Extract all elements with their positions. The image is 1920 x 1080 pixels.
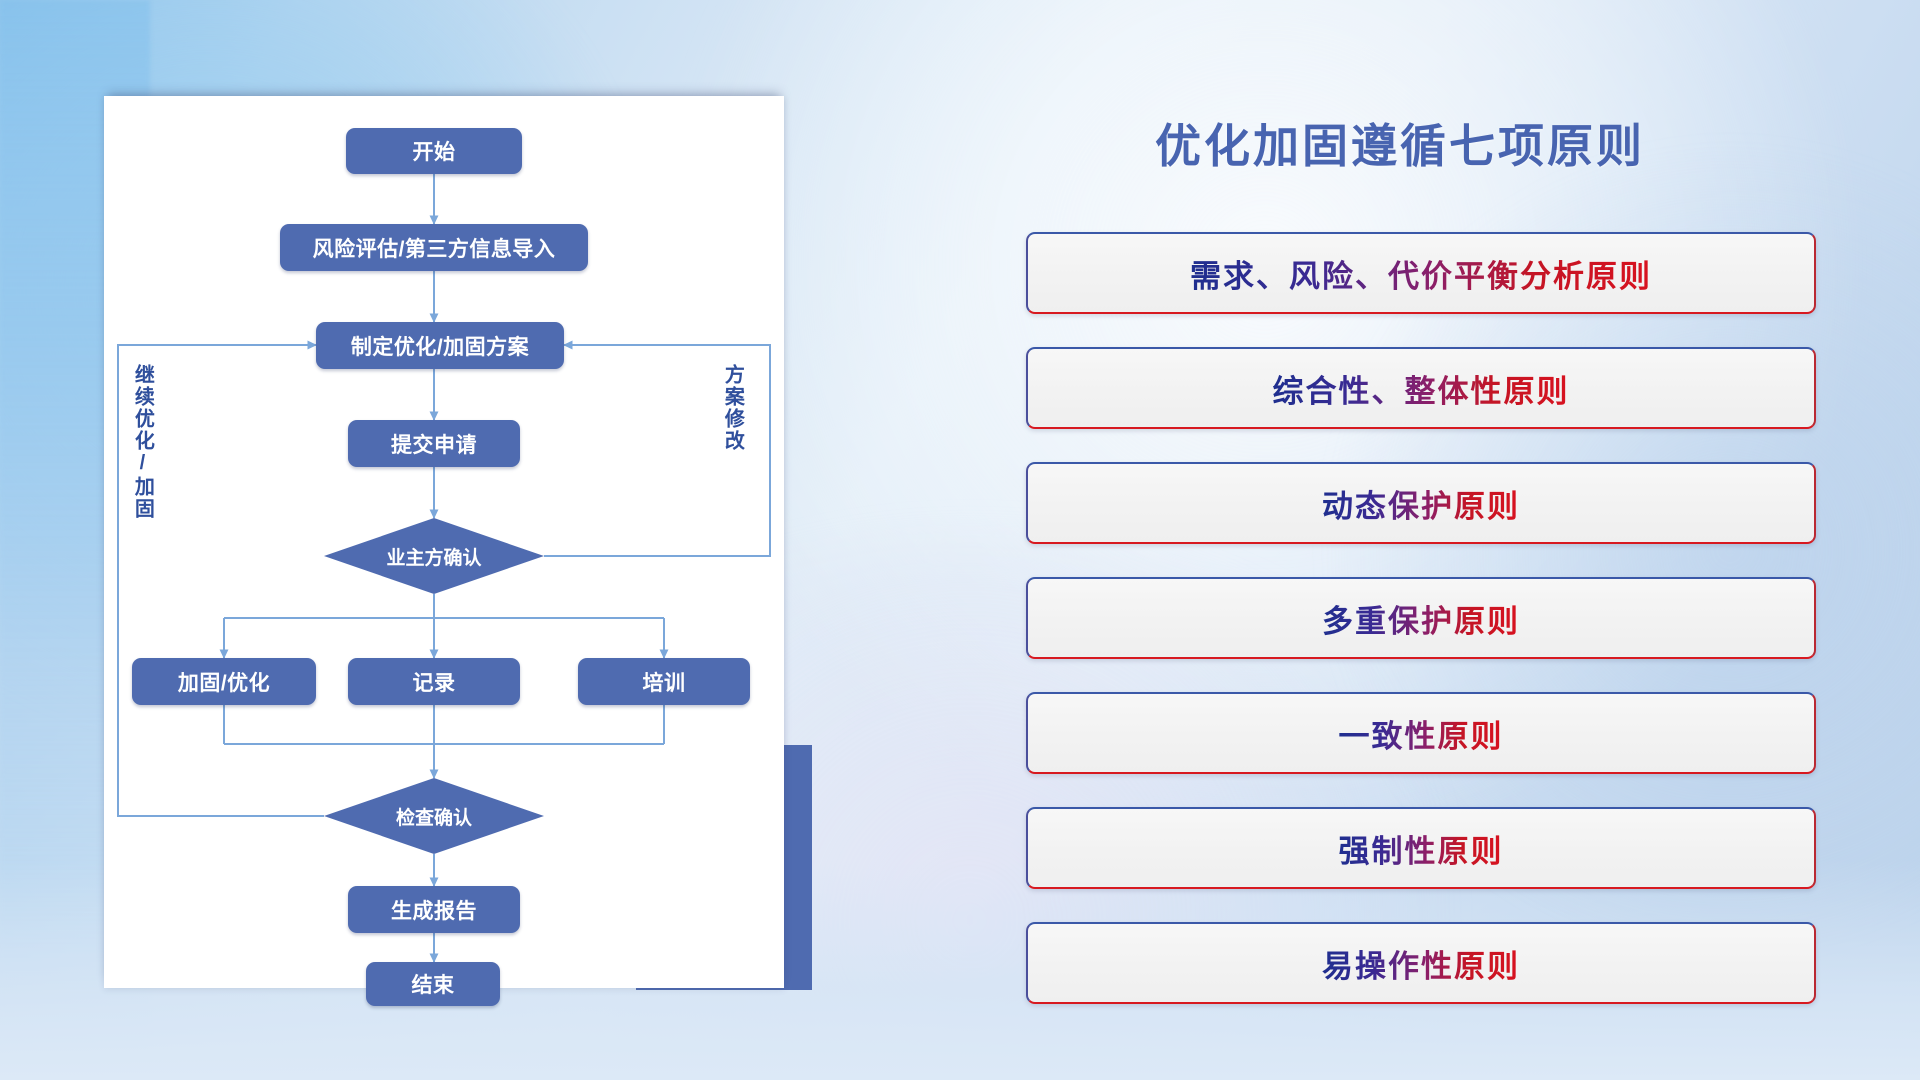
principle-label: 易操作性原则 bbox=[1322, 941, 1520, 986]
principles-title: 优化加固遵循七项原则 bbox=[1155, 110, 1645, 176]
flow-node-label: 生成报告 bbox=[391, 895, 477, 925]
principle-card[interactable]: 多重保护原则 bbox=[1026, 577, 1816, 659]
slide-root: 开始 风险评估/第三方信息导入 制定优化/加固方案 提交申请 业主方确认 加固/… bbox=[0, 0, 1920, 1080]
flow-node-end[interactable]: 结束 bbox=[366, 962, 500, 1006]
principle-card[interactable]: 一致性原则 bbox=[1026, 692, 1816, 774]
principle-label: 一致性原则 bbox=[1339, 711, 1504, 756]
flow-node-owner-confirm[interactable]: 业主方确认 bbox=[324, 518, 544, 594]
flowchart-card: 开始 风险评估/第三方信息导入 制定优化/加固方案 提交申请 业主方确认 加固/… bbox=[104, 96, 784, 988]
flow-node-label: 加固/优化 bbox=[178, 667, 270, 697]
flow-node-risk-assessment[interactable]: 风险评估/第三方信息导入 bbox=[280, 224, 588, 271]
flow-node-plan[interactable]: 制定优化/加固方案 bbox=[316, 322, 564, 369]
principle-label: 强制性原则 bbox=[1339, 826, 1504, 871]
principle-label: 需求、风险、代价平衡分析原则 bbox=[1190, 251, 1652, 296]
principle-card[interactable]: 综合性、整体性原则 bbox=[1026, 347, 1816, 429]
flow-node-check-confirm[interactable]: 检查确认 bbox=[324, 778, 544, 854]
flow-node-label: 制定优化/加固方案 bbox=[351, 331, 529, 361]
flow-node-training[interactable]: 培训 bbox=[578, 658, 750, 705]
flow-node-label: 开始 bbox=[413, 136, 456, 166]
flowchart: 开始 风险评估/第三方信息导入 制定优化/加固方案 提交申请 业主方确认 加固/… bbox=[104, 96, 784, 988]
principle-label: 综合性、整体性原则 bbox=[1273, 366, 1570, 411]
principle-card[interactable]: 易操作性原则 bbox=[1026, 922, 1816, 1004]
flow-node-submit[interactable]: 提交申请 bbox=[348, 420, 520, 467]
edge-label-plan-revision: 方案修改 bbox=[722, 364, 742, 452]
flow-node-record[interactable]: 记录 bbox=[348, 658, 520, 705]
flow-node-label: 风险评估/第三方信息导入 bbox=[313, 233, 556, 263]
flow-node-label: 业主方确认 bbox=[386, 543, 481, 570]
flow-node-label: 培训 bbox=[643, 667, 686, 697]
flow-node-reinforce[interactable]: 加固/优化 bbox=[132, 658, 316, 705]
principles-list: 需求、风险、代价平衡分析原则 综合性、整体性原则 动态保护原则 多重保护原则 一… bbox=[1026, 232, 1816, 1004]
flow-node-label: 提交申请 bbox=[391, 429, 477, 459]
edge-label-continue-optimize: 继续优化/加固 bbox=[132, 364, 152, 520]
flow-node-start[interactable]: 开始 bbox=[346, 128, 522, 174]
flow-node-label: 结束 bbox=[412, 969, 455, 999]
principle-card[interactable]: 强制性原则 bbox=[1026, 807, 1816, 889]
principle-label: 多重保护原则 bbox=[1322, 596, 1520, 641]
flow-node-label: 记录 bbox=[413, 667, 456, 697]
flow-node-label: 检查确认 bbox=[396, 803, 472, 830]
principle-label: 动态保护原则 bbox=[1322, 481, 1520, 526]
principle-card[interactable]: 需求、风险、代价平衡分析原则 bbox=[1026, 232, 1816, 314]
flow-node-report[interactable]: 生成报告 bbox=[348, 886, 520, 933]
principle-card[interactable]: 动态保护原则 bbox=[1026, 462, 1816, 544]
